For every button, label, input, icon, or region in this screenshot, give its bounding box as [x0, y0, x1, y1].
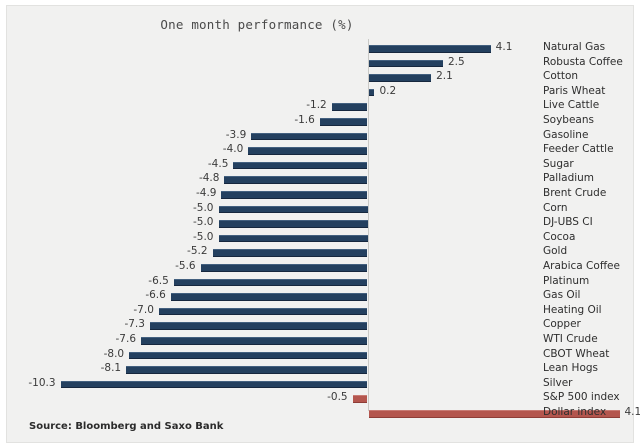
bar-value-label: -7.6: [108, 333, 136, 345]
bar-value-label: -5.2: [180, 245, 208, 257]
category-label: Cotton: [543, 70, 578, 82]
category-label: Dollar index: [543, 406, 606, 418]
bar-row: 2.1Cotton: [7, 71, 635, 86]
category-label: Soybeans: [543, 114, 594, 126]
plot-area: 4.1Natural Gas2.5Robusta Coffee2.1Cotton…: [7, 6, 635, 444]
bar-row: -5.0Cocoa: [7, 232, 635, 247]
bar-gold: [213, 249, 368, 257]
category-label: S&P 500 index: [543, 391, 620, 403]
bar-cocoa: [219, 235, 368, 243]
category-label: Gold: [543, 245, 567, 257]
bar-row: -4.8Palladium: [7, 173, 635, 188]
category-label: Paris Wheat: [543, 85, 605, 97]
bar-row: -1.6Soybeans: [7, 115, 635, 130]
bar-row: -5.0DJ-UBS CI: [7, 217, 635, 232]
bar-row: -8.1Lean Hogs: [7, 363, 635, 378]
bar-value-label: -8.1: [93, 362, 121, 374]
bar-lean-hogs: [126, 366, 367, 374]
category-label: Gasoline: [543, 129, 588, 141]
category-label: Live Cattle: [543, 99, 599, 111]
bar-feeder-cattle: [248, 147, 367, 155]
bar-row: -8.0CBOT Wheat: [7, 349, 635, 364]
category-label: Cocoa: [543, 231, 575, 243]
category-label: Lean Hogs: [543, 362, 598, 374]
bar-row: -1.2Live Cattle: [7, 100, 635, 115]
bar-arabica-coffee: [201, 264, 368, 272]
source-note: Source: Bloomberg and Saxo Bank: [29, 421, 223, 432]
bar-row: -10.3Silver: [7, 378, 635, 393]
bar-row: -5.2Gold: [7, 246, 635, 261]
bar-live-cattle: [332, 103, 368, 111]
category-label: Corn: [543, 202, 568, 214]
bar-soybeans: [320, 118, 368, 126]
chart-screenshot: One month performance (%) 4.1Natural Gas…: [0, 0, 640, 448]
bar-paris-wheat: [369, 89, 375, 97]
bar-value-label: -1.2: [299, 99, 327, 111]
bar-value-label: 0.2: [379, 85, 396, 97]
bar-value-label: -4.8: [191, 172, 219, 184]
category-label: Palladium: [543, 172, 594, 184]
bar-value-label: -6.5: [141, 275, 169, 287]
bar-row: 4.1Dollar index: [7, 407, 635, 422]
bar-value-label: 2.1: [436, 70, 453, 82]
category-label: Sugar: [543, 158, 574, 170]
bar-value-label: -3.9: [218, 129, 246, 141]
bar-row: 2.5Robusta Coffee: [7, 57, 635, 72]
bar-value-label: -5.0: [186, 202, 214, 214]
chart-canvas: One month performance (%) 4.1Natural Gas…: [6, 5, 634, 443]
bar-value-label: -6.6: [138, 289, 166, 301]
category-label: DJ-UBS CI: [543, 216, 593, 228]
bar-value-label: -5.0: [186, 231, 214, 243]
bar-value-label: -4.0: [215, 143, 243, 155]
bar-natural-gas: [369, 45, 491, 53]
category-label: Brent Crude: [543, 187, 606, 199]
category-label: Natural Gas: [543, 41, 605, 53]
bar-row: 4.1Natural Gas: [7, 42, 635, 57]
category-label: Robusta Coffee: [543, 56, 623, 68]
category-label: Feeder Cattle: [543, 143, 614, 155]
category-label: Gas Oil: [543, 289, 580, 301]
bar-row: -7.3Copper: [7, 319, 635, 334]
bar-wti-crude: [141, 337, 367, 345]
bar-dj-ubs-ci: [219, 220, 368, 228]
category-label: CBOT Wheat: [543, 348, 609, 360]
bar-value-label: -4.5: [200, 158, 228, 170]
bar-row: -4.5Sugar: [7, 159, 635, 174]
bar-cotton: [369, 74, 432, 82]
bar-row: -4.0Feeder Cattle: [7, 144, 635, 159]
bar-row: -5.0Corn: [7, 203, 635, 218]
bar-gas-oil: [171, 293, 368, 301]
bar-value-label: -7.3: [117, 318, 145, 330]
bar-row: -5.6Arabica Coffee: [7, 261, 635, 276]
bar-gasoline: [251, 133, 367, 141]
category-label: Platinum: [543, 275, 589, 287]
bar-value-label: -5.0: [186, 216, 214, 228]
bar-silver: [61, 381, 368, 389]
bar-value-label: -0.5: [320, 391, 348, 403]
bar-value-label: 4.1: [496, 41, 513, 53]
bar-row: -7.0Heating Oil: [7, 305, 635, 320]
bar-value-label: -10.3: [28, 377, 56, 389]
bar-platinum: [174, 279, 368, 287]
category-label: WTI Crude: [543, 333, 598, 345]
category-label: Silver: [543, 377, 573, 389]
bar-row: -0.5S&P 500 index: [7, 392, 635, 407]
bar-cbot-wheat: [129, 352, 367, 360]
bar-robusta-coffee: [369, 60, 444, 68]
category-label: Copper: [543, 318, 581, 330]
bar-heating-oil: [159, 308, 368, 316]
bar-value-label: -5.6: [168, 260, 196, 272]
bar-value-label: -1.6: [287, 114, 315, 126]
bar-palladium: [224, 176, 367, 184]
bar-row: 0.2Paris Wheat: [7, 86, 635, 101]
bar-corn: [219, 206, 368, 214]
bar-row: -6.6Gas Oil: [7, 290, 635, 305]
bar-row: -4.9Brent Crude: [7, 188, 635, 203]
bar-value-label: -4.9: [188, 187, 216, 199]
bar-value-label: 2.5: [448, 56, 465, 68]
category-label: Heating Oil: [543, 304, 602, 316]
category-label: Arabica Coffee: [543, 260, 620, 272]
bar-copper: [150, 322, 368, 330]
bar-value-label: -8.0: [96, 348, 124, 360]
bar-value-label: 4.1: [625, 406, 640, 418]
bar-brent-crude: [221, 191, 367, 199]
bar-row: -7.6WTI Crude: [7, 334, 635, 349]
bar-row: -3.9Gasoline: [7, 130, 635, 145]
bar-row: -6.5Platinum: [7, 276, 635, 291]
bar-sugar: [233, 162, 367, 170]
bar-s-p-500-index: [353, 395, 368, 403]
bar-value-label: -7.0: [126, 304, 154, 316]
